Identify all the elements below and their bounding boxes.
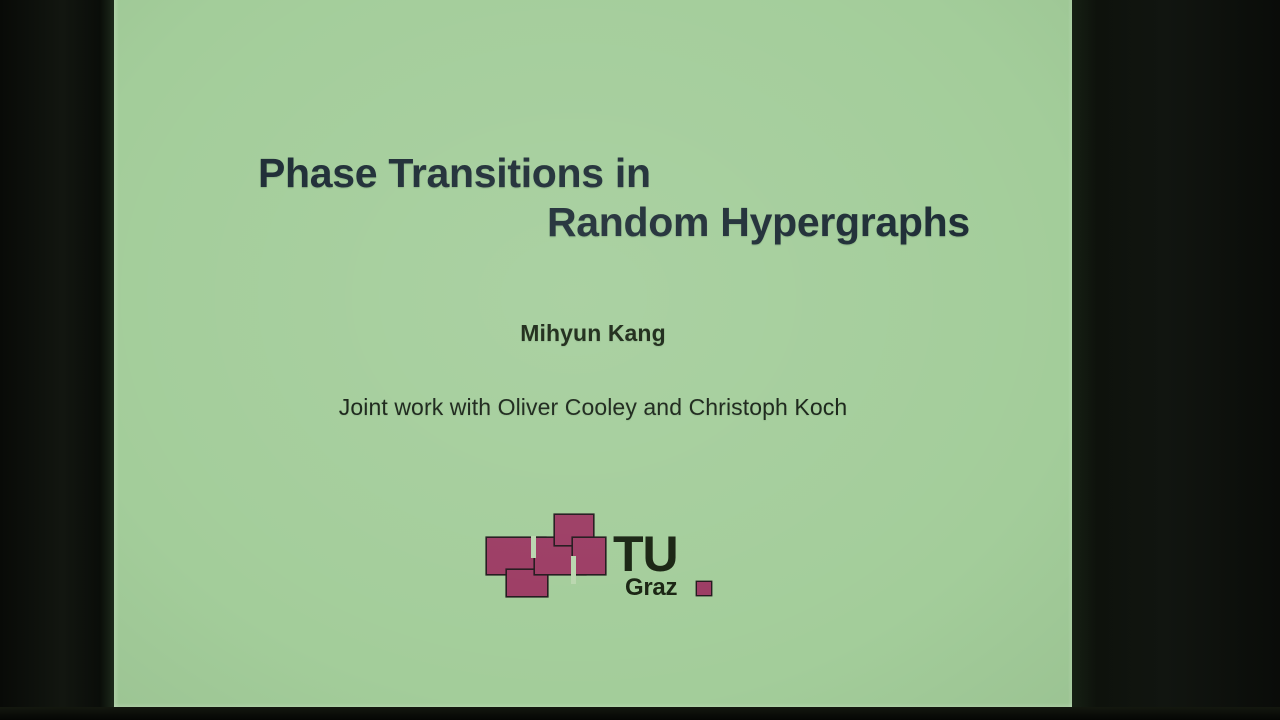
logo-wordmark-graz: Graz xyxy=(625,576,677,600)
logo-slit-left xyxy=(531,536,536,558)
room-wall-left xyxy=(0,0,114,720)
tu-graz-logo-mark-icon xyxy=(487,514,605,596)
slide-title-line-2: Random Hypergraphs xyxy=(547,199,970,246)
logo-block-right-wing xyxy=(573,538,605,574)
camera-frame: Phase Transitions in Random Hypergraphs … xyxy=(0,0,1280,720)
joint-work-credit: Joint work with Oliver Cooley and Christ… xyxy=(114,394,1072,421)
tu-graz-logo: TU Graz xyxy=(487,514,797,600)
logo-slit-right xyxy=(571,556,576,584)
logo-accent-square-icon xyxy=(697,582,711,595)
room-wall-right xyxy=(1072,0,1280,720)
projected-slide: Phase Transitions in Random Hypergraphs … xyxy=(114,0,1072,707)
tu-graz-logo-text: TU Graz xyxy=(613,514,797,600)
room-wall-bottom xyxy=(0,707,1280,720)
slide-content: Phase Transitions in Random Hypergraphs … xyxy=(114,0,1072,707)
slide-title-line-1: Phase Transitions in xyxy=(258,150,651,197)
logo-wordmark-tu: TU xyxy=(613,529,678,579)
author-name: Mihyun Kang xyxy=(114,320,1072,347)
